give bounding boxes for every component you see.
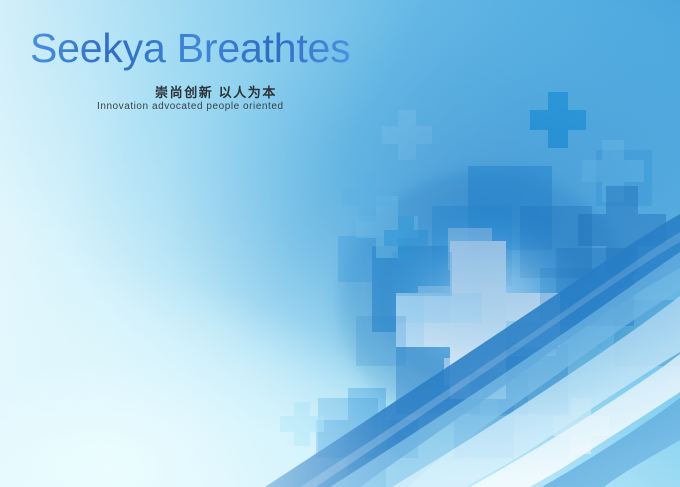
slogan-english: Innovation advocated people oriented (97, 101, 284, 112)
page-title: Seekya Breathtes (30, 26, 350, 71)
poster-artwork (0, 0, 680, 487)
poster-canvas: Seekya Breathtes 崇尚创新 以人为本 Innovation ad… (0, 0, 680, 487)
slogan-chinese: 崇尚创新 以人为本 (155, 82, 277, 101)
